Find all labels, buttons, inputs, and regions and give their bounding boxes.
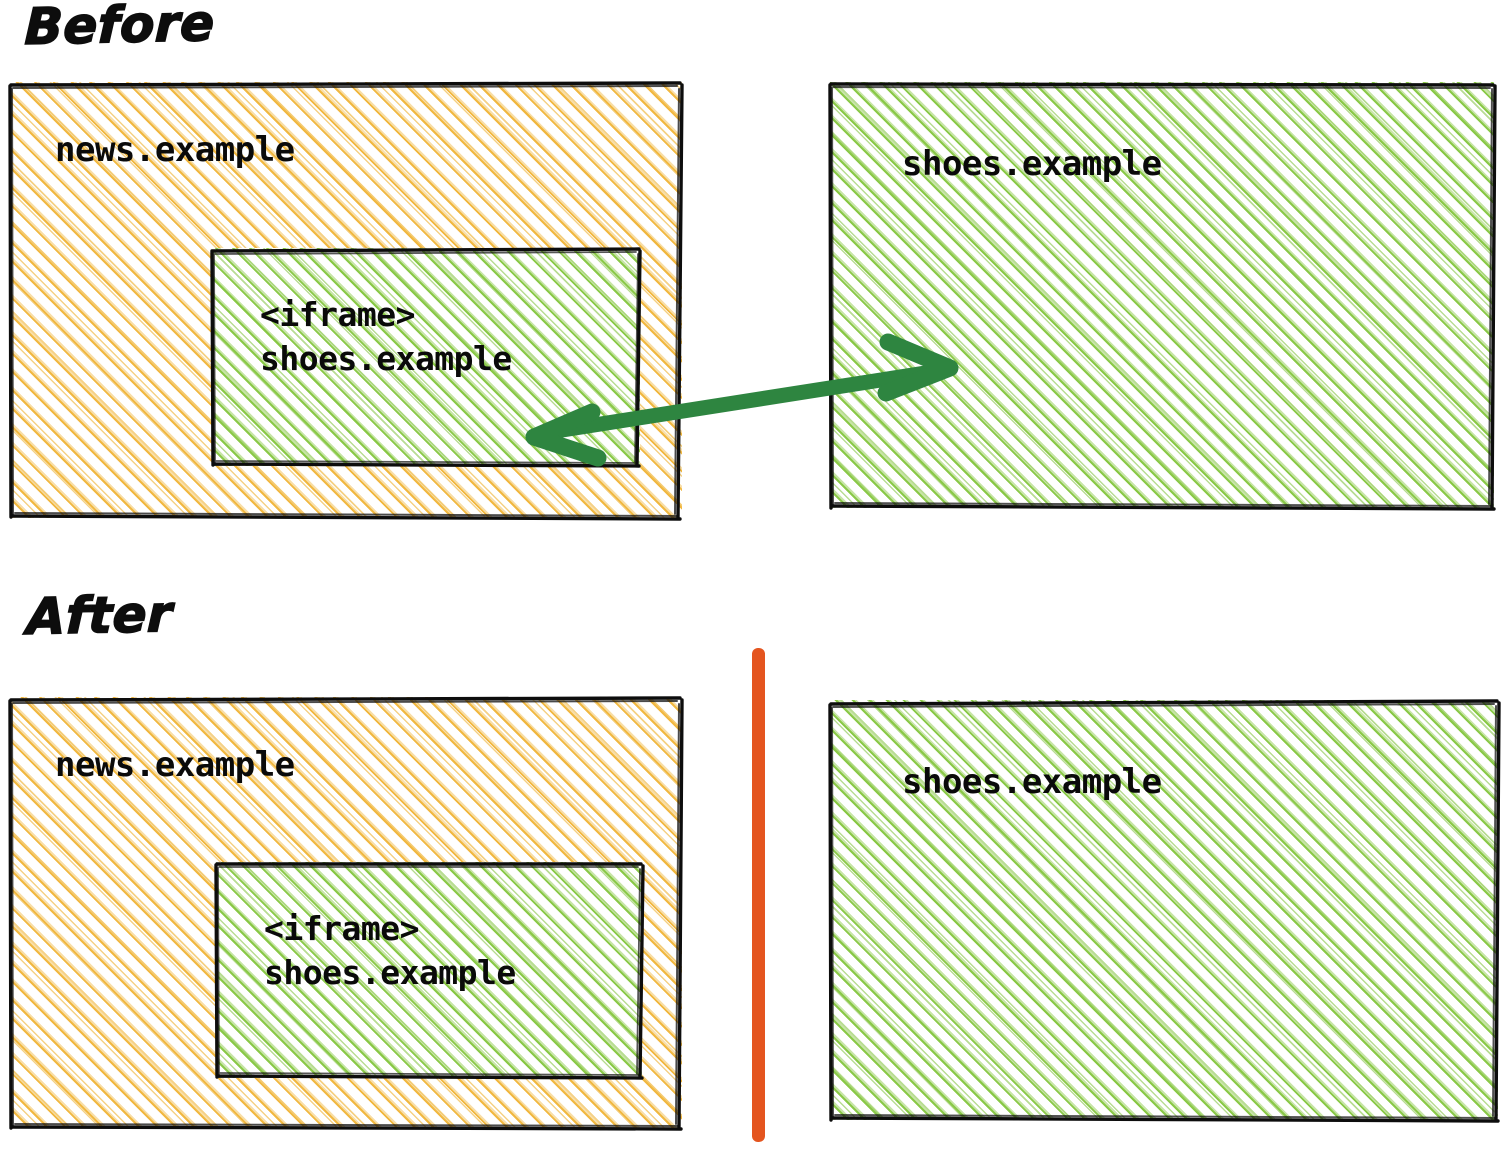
- before-iframe-box: <iframe> shoes.example: [212, 248, 640, 466]
- after-iframe-label-line1: <iframe>: [264, 910, 419, 949]
- after-iframe-label-line2: shoes.example: [264, 954, 516, 993]
- before-shoes-example-box: shoes.example: [830, 82, 1494, 508]
- after-iframe-box: <iframe> shoes.example: [216, 862, 642, 1078]
- sketch-border: [824, 76, 1500, 514]
- diagram-canvas: Before news.example <iframe> shoes.examp…: [0, 0, 1506, 1154]
- after-news-example-label: news.example: [55, 745, 295, 785]
- before-news-example-label: news.example: [55, 130, 295, 170]
- section-heading-after: After: [26, 589, 173, 642]
- after-shoes-example-label: shoes.example: [902, 762, 1162, 802]
- partition-separator-bar: [752, 648, 765, 1142]
- sketch-border: [824, 694, 1504, 1126]
- before-iframe-label-line1: <iframe>: [260, 296, 415, 335]
- after-shoes-example-box: shoes.example: [830, 700, 1498, 1120]
- before-shoes-example-label: shoes.example: [902, 144, 1162, 184]
- section-heading-before: Before: [24, 0, 215, 52]
- before-iframe-label-line2: shoes.example: [260, 340, 512, 379]
